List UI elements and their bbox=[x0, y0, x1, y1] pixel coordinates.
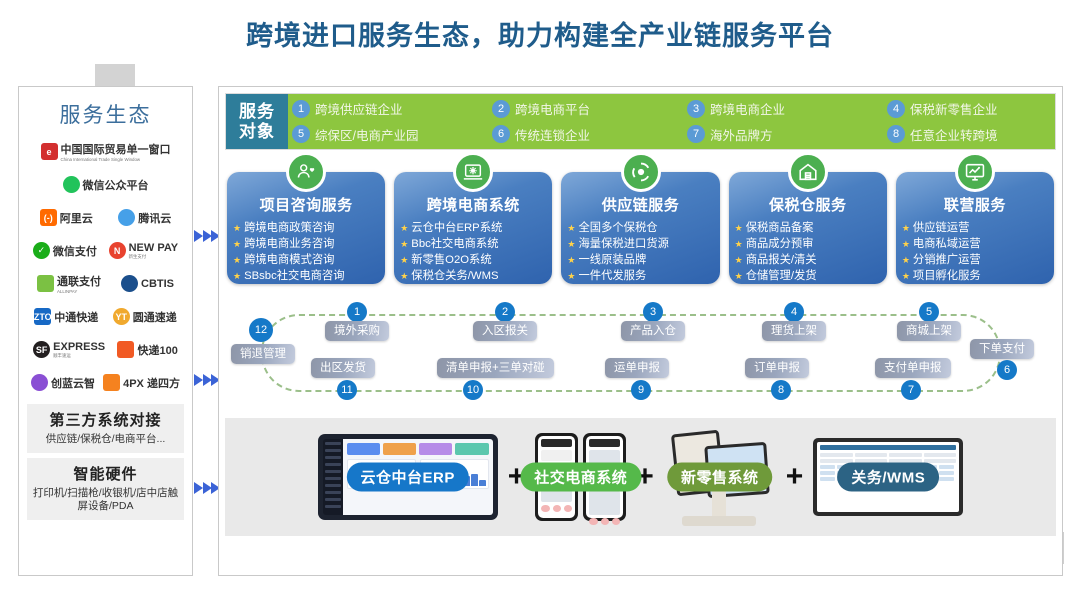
service-card-title: 项目咨询服务 bbox=[233, 194, 379, 215]
laptop-gear-icon bbox=[453, 152, 493, 192]
star-icon: ★ bbox=[735, 270, 743, 283]
service-card-feature-label: SBsbc社交电商咨询 bbox=[244, 268, 344, 284]
aliyun-logo-mark: (-) bbox=[40, 209, 57, 226]
wechat-official-logo-text: 微信公众平台 bbox=[83, 177, 149, 193]
zto-express-logo-text: 中通快递 bbox=[54, 309, 98, 325]
warehouse-icon bbox=[788, 152, 828, 192]
service-card-1[interactable]: 项目咨询服务★跨境电商政策咨询★跨境电商业务咨询★跨境电商模式咨询★SBsbc社… bbox=[227, 172, 385, 284]
service-target-label: 海外品牌方 bbox=[710, 125, 773, 144]
china-single-window-logo: e中国国际贸易单一窗口China International Trade Sin… bbox=[41, 141, 171, 162]
star-icon: ★ bbox=[735, 238, 743, 251]
flow-step-7[interactable]: 支付单申报 bbox=[875, 358, 951, 378]
service-card-feature-list: ★供应链运营★电商私域运营★分销推广运营★项目孵化服务 bbox=[902, 220, 1048, 284]
cbtis-logo-text: CBTIS bbox=[141, 278, 174, 290]
page-title: 跨境进口服务生态，助力构建全产业链服务平台 bbox=[0, 14, 1080, 53]
flow-step-number-4: 4 bbox=[784, 302, 804, 322]
service-target-label: 任意企业转跨境 bbox=[910, 125, 998, 144]
flow-step-12[interactable]: 销退管理 bbox=[231, 344, 295, 364]
service-card-feature-label: 供应链运营 bbox=[913, 220, 970, 236]
service-card-feature-label: 跨境电商模式咨询 bbox=[244, 252, 334, 268]
service-target-label-line2: 对象 bbox=[239, 122, 275, 142]
service-card-feature-list: ★保税商品备案★商品成分预审★商品报关/清关★仓储管理/发货 bbox=[735, 220, 881, 284]
china-single-window-logo-text: 中国国际贸易单一窗口China International Trade Sing… bbox=[61, 141, 171, 162]
service-card-feature-label: 保税仓关务/WMS bbox=[411, 268, 498, 284]
star-icon: ★ bbox=[233, 270, 241, 283]
star-icon: ★ bbox=[902, 222, 910, 235]
4px-logo-text: 4PX 递四方 bbox=[123, 375, 180, 391]
allinpay-logo-subtext: ALLINPAY bbox=[57, 289, 101, 294]
service-card-feature: ★保税商品备案 bbox=[735, 220, 881, 236]
service-card-feature: ★Bbc社交电商系统 bbox=[400, 236, 546, 252]
star-icon: ★ bbox=[735, 254, 743, 267]
service-target-item-3[interactable]: 3跨境电商企业 bbox=[687, 99, 887, 118]
service-card-feature: ★跨境电商政策咨询 bbox=[233, 220, 379, 236]
service-target-label: 服务 对象 bbox=[226, 94, 288, 149]
smart-hardware: 智能硬件打印机/扫描枪/收银机/店中店触屏设备/PDA bbox=[27, 458, 184, 520]
service-target-item-1[interactable]: 1跨境供应链企业 bbox=[292, 99, 492, 118]
service-target-label: 跨境电商企业 bbox=[710, 99, 785, 118]
service-card-title: 跨境电商系统 bbox=[400, 194, 546, 215]
flow-step-number-12: 12 bbox=[249, 318, 273, 342]
process-flow-diagram: 1境外采购2入区报关3产品入仓4理货上架5商城上架下单支付6支付单申报7订单申报… bbox=[225, 298, 1056, 408]
service-card-feature-label: 商品报关/清关 bbox=[746, 252, 817, 268]
service-card-feature: ★项目孵化服务 bbox=[902, 268, 1048, 284]
product-badge-new-retail: 新零售系统 bbox=[667, 463, 773, 492]
service-card-title: 供应链服务 bbox=[567, 194, 713, 215]
wechat-pay-logo-text: 微信支付 bbox=[53, 243, 97, 259]
chuanglan-logo: 创蓝云智 bbox=[31, 374, 95, 391]
star-icon: ★ bbox=[233, 222, 241, 235]
flow-step-number-10: 10 bbox=[463, 380, 483, 400]
partner-logo-row: ZTO中通快递YT圆通速递 bbox=[25, 300, 186, 333]
service-card-feature-label: 商品成分预审 bbox=[746, 236, 814, 252]
flow-step-3[interactable]: 产品入仓 bbox=[621, 321, 685, 341]
service-card-feature: ★分销推广运营 bbox=[902, 252, 1048, 268]
star-icon: ★ bbox=[567, 270, 575, 283]
service-card-feature-list: ★跨境电商政策咨询★跨境电商业务咨询★跨境电商模式咨询★SBsbc社交电商咨询 bbox=[233, 220, 379, 284]
service-target-header: 服务 对象 1跨境供应链企业2跨境电商平台3跨境电商企业4保税新零售企业 5综保… bbox=[225, 93, 1056, 150]
flow-arrow-2 bbox=[194, 370, 220, 390]
plus-sign-3: + bbox=[786, 462, 804, 492]
service-card-feature: ★SBsbc社交电商咨询 bbox=[233, 268, 379, 284]
service-card-title: 联营服务 bbox=[902, 194, 1048, 215]
newpay-logo-mark: N bbox=[109, 242, 126, 259]
service-target-item-4[interactable]: 4保税新零售企业 bbox=[887, 99, 998, 118]
service-card-feature-list: ★云仓中台ERP系统★Bbc社交电商系统★新零售O2O系统★保税仓关务/WMS bbox=[400, 220, 546, 284]
product-customs-wms[interactable]: 关务/WMS bbox=[813, 438, 963, 516]
sf-express-logo: SFEXPRESS顺丰速运 bbox=[33, 341, 105, 359]
smart-hardware-title: 智能硬件 bbox=[31, 463, 180, 484]
flow-step-number-7: 7 bbox=[901, 380, 921, 400]
newpay-logo-text: NEW PAY新生支付 bbox=[129, 242, 179, 260]
flow-step-number-8: 8 bbox=[771, 380, 791, 400]
service-card-feature-label: 跨境电商政策咨询 bbox=[244, 220, 334, 236]
slide-root: 跨境进口服务生态，助力构建全产业链服务平台 服务生态 e中国国际贸易单一窗口Ch… bbox=[0, 0, 1080, 608]
sf-express-logo-subtext: 顺丰速运 bbox=[53, 353, 105, 359]
service-card-list: 项目咨询服务★跨境电商政策咨询★跨境电商业务咨询★跨境电商模式咨询★SBsbc社… bbox=[225, 172, 1056, 284]
product-new-retail[interactable]: 新零售系统 bbox=[664, 428, 776, 526]
newpay-logo-subtext: 新生支付 bbox=[129, 254, 179, 260]
flow-step-6[interactable]: 下单支付 bbox=[970, 339, 1034, 359]
zto-express-logo-mark: ZTO bbox=[34, 308, 51, 325]
cbtis-logo-mark bbox=[121, 275, 138, 292]
flow-step-number-6: 6 bbox=[997, 360, 1017, 380]
service-target-item-5[interactable]: 5综保区/电商产业园 bbox=[292, 125, 492, 144]
partner-logo-row: 创蓝云智4PX 递四方 bbox=[25, 366, 186, 399]
service-card-feature-label: 项目孵化服务 bbox=[913, 268, 981, 284]
star-icon: ★ bbox=[567, 238, 575, 251]
partner-logo-row: SFEXPRESS顺丰速运快递100 bbox=[25, 333, 186, 366]
partner-logo-row: 通联支付ALLINPAYCBTIS bbox=[25, 267, 186, 300]
third-party-integration-desc: 供应链/保税仓/电商平台... bbox=[31, 433, 180, 447]
yto-express-logo-text: 圆通速递 bbox=[133, 309, 177, 325]
aliyun-logo-text: 阿里云 bbox=[60, 210, 93, 226]
star-icon: ★ bbox=[567, 254, 575, 267]
smart-hardware-desc: 打印机/扫描枪/收银机/店中店触屏设备/PDA bbox=[31, 487, 180, 514]
cbtis-logo: CBTIS bbox=[121, 275, 174, 292]
flow-step-number-9: 9 bbox=[631, 380, 651, 400]
yto-express-logo-mark: YT bbox=[113, 308, 130, 325]
4px-logo: 4PX 递四方 bbox=[103, 374, 180, 391]
product-badge-social-ecommerce: 社交电商系统 bbox=[520, 463, 641, 492]
star-icon: ★ bbox=[735, 222, 743, 235]
service-card-5[interactable]: 联营服务★供应链运营★电商私域运营★分销推广运营★项目孵化服务 bbox=[896, 172, 1054, 284]
supply-chain-icon bbox=[621, 152, 661, 192]
service-card-feature: ★电商私域运营 bbox=[902, 236, 1048, 252]
sidebar-panels: 第三方系统对接供应链/保税仓/电商平台...智能硬件打印机/扫描枪/收银机/店中… bbox=[25, 404, 186, 520]
kuaidi100-logo: 快递100 bbox=[117, 341, 177, 358]
third-party-integration: 第三方系统对接供应链/保税仓/电商平台... bbox=[27, 404, 184, 453]
star-icon: ★ bbox=[400, 254, 408, 267]
service-card-feature-label: Bbc社交电商系统 bbox=[411, 236, 498, 252]
wechat-pay-logo-mark: ✓ bbox=[33, 242, 50, 259]
service-card-feature-label: 云仓中台ERP系统 bbox=[411, 220, 502, 236]
service-target-item-8[interactable]: 8任意企业转跨境 bbox=[887, 125, 998, 144]
wechat-official-logo-mark bbox=[63, 176, 80, 193]
product-badge-yuncang-erp: 云仓中台ERP bbox=[347, 463, 469, 492]
kuaidi100-logo-mark bbox=[117, 341, 134, 358]
allinpay-logo-mark bbox=[37, 275, 54, 292]
wechat-official-logo: 微信公众平台 bbox=[63, 176, 149, 193]
service-target-items: 1跨境供应链企业2跨境电商平台3跨境电商企业4保税新零售企业 5综保区/电商产业… bbox=[288, 94, 1055, 149]
service-card-feature: ★跨境电商业务咨询 bbox=[233, 236, 379, 252]
service-card-3[interactable]: 供应链服务★全国多个保税仓★海量保税进口货源★一线原装品牌★一件代发服务 bbox=[561, 172, 719, 284]
service-card-feature-label: 海量保税进口货源 bbox=[578, 236, 668, 252]
flow-step-9[interactable]: 运单申报 bbox=[605, 358, 669, 378]
service-card-feature-list: ★全国多个保税仓★海量保税进口货源★一线原装品牌★一件代发服务 bbox=[567, 220, 713, 284]
flow-step-11[interactable]: 出区发货 bbox=[311, 358, 375, 378]
third-party-integration-title: 第三方系统对接 bbox=[31, 409, 180, 430]
partner-logo-row: 微信公众平台 bbox=[25, 168, 186, 201]
service-card-feature: ★新零售O2O系统 bbox=[400, 252, 546, 268]
main-panel: 服务 对象 1跨境供应链企业2跨境电商平台3跨境电商企业4保税新零售企业 5综保… bbox=[218, 86, 1063, 576]
partner-logo-row: ✓微信支付NNEW PAY新生支付 bbox=[25, 234, 186, 267]
service-card-feature: ★保税仓关务/WMS bbox=[400, 268, 546, 284]
service-target-item-6[interactable]: 6传统连锁企业 bbox=[492, 125, 687, 144]
partner-logo-list: e中国国际贸易单一窗口China International Trade Sin… bbox=[25, 135, 186, 399]
flow-step-number-2: 2 bbox=[495, 302, 515, 322]
star-icon: ★ bbox=[400, 270, 408, 283]
china-single-window-logo-mark: e bbox=[41, 143, 58, 160]
flow-step-number-3: 3 bbox=[643, 302, 663, 322]
star-icon: ★ bbox=[233, 238, 241, 251]
service-target-label-line1: 服务 bbox=[239, 102, 275, 122]
service-card-feature-label: 分销推广运营 bbox=[913, 252, 981, 268]
service-card-feature-label: 电商私域运营 bbox=[913, 236, 981, 252]
allinpay-logo-text: 通联支付ALLINPAY bbox=[57, 273, 101, 294]
service-card-feature-label: 跨境电商业务咨询 bbox=[244, 236, 334, 252]
service-target-item-7[interactable]: 7海外品牌方 bbox=[687, 125, 887, 144]
service-ecosystem-sidebar: 服务生态 e中国国际贸易单一窗口China International Trad… bbox=[18, 86, 193, 576]
service-card-feature: ★商品成分预审 bbox=[735, 236, 881, 252]
chart-monitor-icon bbox=[955, 152, 995, 192]
flow-step-number-1: 1 bbox=[347, 302, 367, 322]
newpay-logo: NNEW PAY新生支付 bbox=[109, 242, 179, 260]
service-target-label: 跨境电商平台 bbox=[515, 99, 590, 118]
product-showcase: 云仓中台ERP + 社交电商系统 + bbox=[225, 418, 1056, 536]
sidebar-heading: 服务生态 bbox=[25, 99, 186, 129]
flow-step-number-11: 11 bbox=[337, 380, 357, 400]
service-target-item-2[interactable]: 2跨境电商平台 bbox=[492, 99, 687, 118]
flow-arrow-3 bbox=[194, 478, 220, 498]
product-social-ecommerce[interactable]: 社交电商系统 bbox=[535, 433, 626, 521]
service-target-label: 跨境供应链企业 bbox=[315, 99, 403, 118]
service-card-feature-label: 全国多个保税仓 bbox=[578, 220, 657, 236]
flow-arrow-1 bbox=[194, 226, 220, 246]
star-icon: ★ bbox=[400, 238, 408, 251]
service-card-feature: ★海量保税进口货源 bbox=[567, 236, 713, 252]
star-icon: ★ bbox=[400, 222, 408, 235]
service-target-label: 传统连锁企业 bbox=[515, 125, 590, 144]
service-card-feature-label: 一件代发服务 bbox=[578, 268, 646, 284]
service-card-feature: ★一件代发服务 bbox=[567, 268, 713, 284]
flow-step-number-5: 5 bbox=[919, 302, 939, 322]
flow-step-10[interactable]: 清单申报+三单对碰 bbox=[437, 358, 554, 378]
service-target-number: 5 bbox=[292, 125, 310, 143]
service-target-number: 4 bbox=[887, 100, 905, 118]
service-card-feature-label: 一线原装品牌 bbox=[578, 252, 646, 268]
product-yuncang-erp[interactable]: 云仓中台ERP bbox=[318, 434, 498, 520]
yto-express-logo: YT圆通速递 bbox=[113, 308, 177, 325]
service-card-feature: ★一线原装品牌 bbox=[567, 252, 713, 268]
service-card-feature: ★供应链运营 bbox=[902, 220, 1048, 236]
service-card-feature-label: 仓储管理/发货 bbox=[746, 268, 817, 284]
service-target-number: 2 bbox=[492, 100, 510, 118]
service-target-number: 1 bbox=[292, 100, 310, 118]
chuanglan-logo-mark bbox=[31, 374, 48, 391]
product-badge-customs-wms: 关务/WMS bbox=[837, 463, 939, 492]
tencent-cloud-logo: 腾讯云 bbox=[118, 209, 171, 226]
service-card-2[interactable]: 跨境电商系统★云仓中台ERP系统★Bbc社交电商系统★新零售O2O系统★保税仓关… bbox=[394, 172, 552, 284]
wechat-pay-logo: ✓微信支付 bbox=[33, 242, 97, 259]
star-icon: ★ bbox=[233, 254, 241, 267]
service-target-label: 综保区/电商产业园 bbox=[315, 125, 418, 144]
service-target-row-1: 1跨境供应链企业2跨境电商平台3跨境电商企业4保税新零售企业 bbox=[292, 96, 1051, 122]
sf-express-logo-text: EXPRESS顺丰速运 bbox=[53, 341, 105, 359]
tencent-cloud-logo-text: 腾讯云 bbox=[138, 210, 171, 226]
zto-express-logo: ZTO中通快递 bbox=[34, 308, 98, 325]
4px-logo-mark bbox=[103, 374, 120, 391]
aliyun-logo: (-)阿里云 bbox=[40, 209, 93, 226]
flow-step-1[interactable]: 境外采购 bbox=[325, 321, 389, 341]
service-card-feature: ★云仓中台ERP系统 bbox=[400, 220, 546, 236]
service-target-number: 6 bbox=[492, 125, 510, 143]
partner-logo-row: (-)阿里云腾讯云 bbox=[25, 201, 186, 234]
star-icon: ★ bbox=[902, 238, 910, 251]
service-target-number: 8 bbox=[887, 125, 905, 143]
service-card-feature: ★仓储管理/发货 bbox=[735, 268, 881, 284]
kuaidi100-logo-text: 快递100 bbox=[137, 342, 177, 358]
flow-step-2[interactable]: 入区报关 bbox=[473, 321, 537, 341]
person-heart-icon bbox=[286, 152, 326, 192]
sf-express-logo-mark: SF bbox=[33, 341, 50, 358]
service-target-label: 保税新零售企业 bbox=[910, 99, 998, 118]
star-icon: ★ bbox=[567, 222, 575, 235]
service-card-feature-label: 保税商品备案 bbox=[746, 220, 814, 236]
service-card-feature-label: 新零售O2O系统 bbox=[411, 252, 491, 268]
flow-step-8[interactable]: 订单申报 bbox=[745, 358, 809, 378]
star-icon: ★ bbox=[902, 270, 910, 283]
allinpay-logo: 通联支付ALLINPAY bbox=[37, 273, 101, 294]
star-icon: ★ bbox=[902, 254, 910, 267]
chuanglan-logo-text: 创蓝云智 bbox=[51, 375, 95, 391]
service-target-row-2: 5综保区/电商产业园6传统连锁企业7海外品牌方8任意企业转跨境 bbox=[292, 122, 1051, 148]
service-card-feature: ★商品报关/清关 bbox=[735, 252, 881, 268]
partner-logo-row: e中国国际贸易单一窗口China International Trade Sin… bbox=[25, 135, 186, 168]
tablet-sidebar bbox=[323, 439, 343, 515]
flow-step-4[interactable]: 理货上架 bbox=[762, 321, 826, 341]
service-card-4[interactable]: 保税仓服务★保税商品备案★商品成分预审★商品报关/清关★仓储管理/发货 bbox=[729, 172, 887, 284]
service-target-number: 7 bbox=[687, 125, 705, 143]
china-single-window-logo-subtext: China International Trade Single Window bbox=[61, 157, 171, 162]
service-card-title: 保税仓服务 bbox=[735, 194, 881, 215]
service-card-feature: ★跨境电商模式咨询 bbox=[233, 252, 379, 268]
flow-step-5[interactable]: 商城上架 bbox=[897, 321, 961, 341]
tencent-cloud-logo-mark bbox=[118, 209, 135, 226]
service-target-number: 3 bbox=[687, 100, 705, 118]
service-card-feature: ★全国多个保税仓 bbox=[567, 220, 713, 236]
